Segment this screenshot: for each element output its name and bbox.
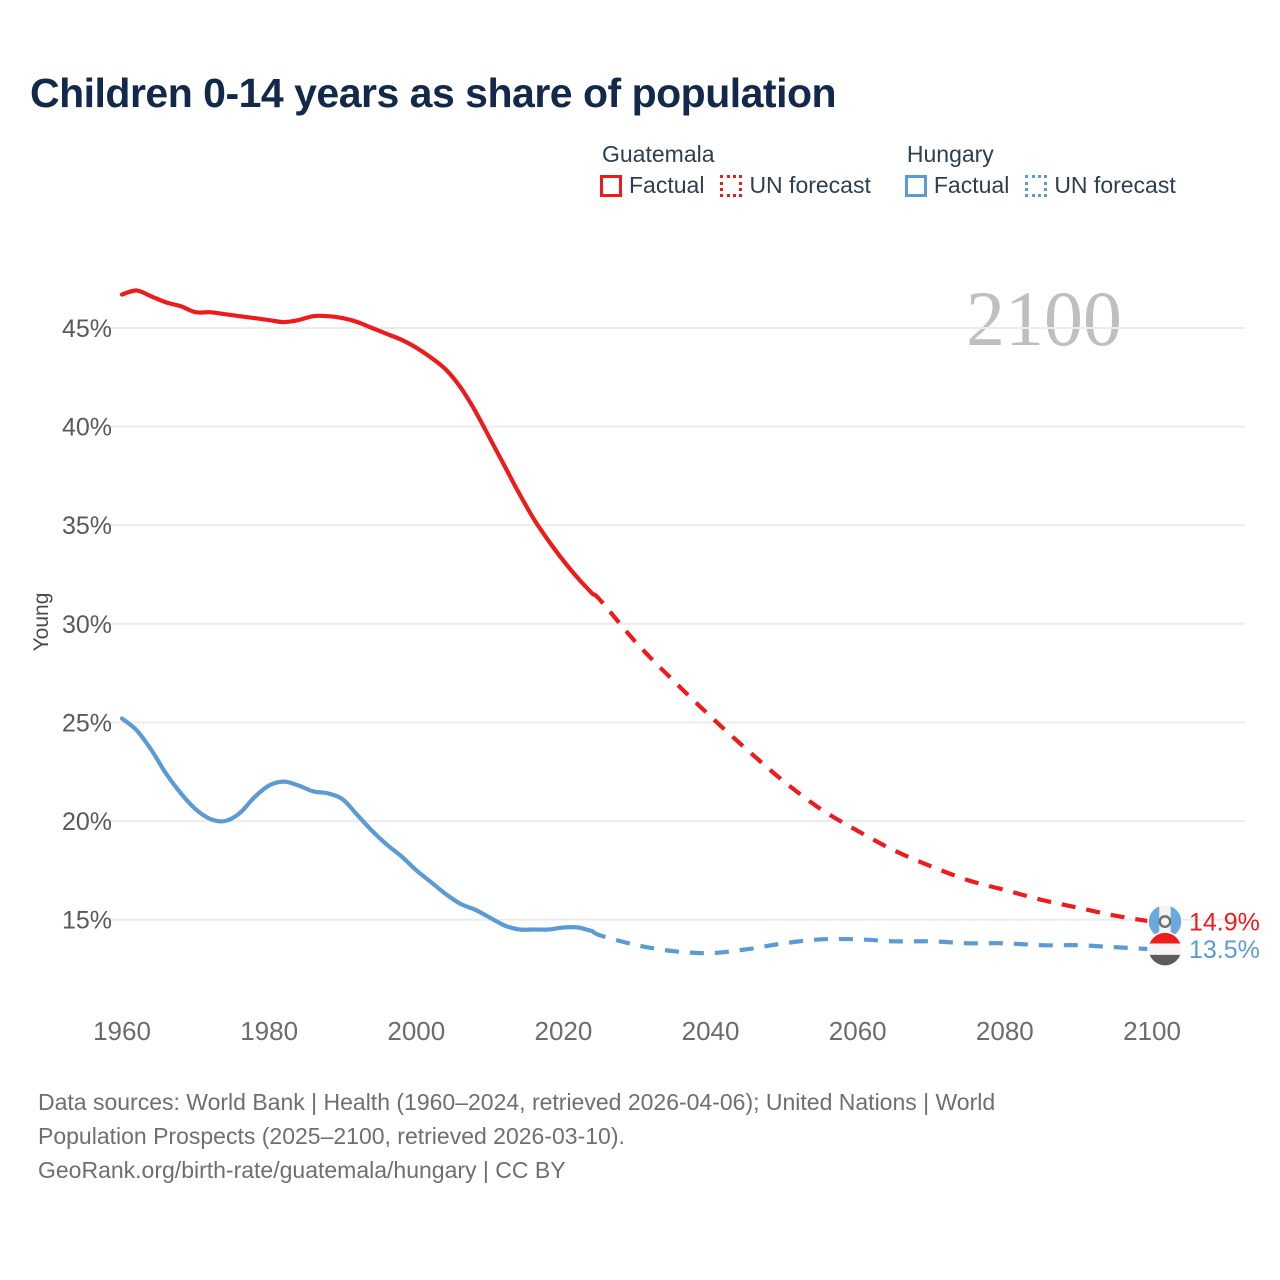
x-tick-label: 2060 bbox=[829, 1016, 887, 1046]
y-tick-label: 15% bbox=[62, 907, 112, 935]
line-chart-svg: 2100 15%20%25%30%35%40%45% 1960198020002… bbox=[0, 0, 1280, 1060]
x-tick-label: 1960 bbox=[93, 1016, 151, 1046]
x-tick-label: 2100 bbox=[1123, 1016, 1181, 1046]
y-tick-label: 20% bbox=[62, 808, 112, 836]
y-tick-label: 45% bbox=[62, 315, 112, 343]
guatemala-end-label: 14.9% bbox=[1189, 909, 1260, 937]
chart-page: Children 0-14 years as share of populati… bbox=[0, 0, 1280, 1280]
x-tick-label: 2020 bbox=[535, 1016, 593, 1046]
x-tick-label: 2080 bbox=[976, 1016, 1034, 1046]
year-watermark: 2100 bbox=[966, 275, 1122, 362]
data-series-group bbox=[122, 290, 1152, 953]
series-line-factual-guatemala bbox=[122, 290, 593, 594]
x-tick-label: 1980 bbox=[240, 1016, 298, 1046]
x-tick-label: 2040 bbox=[682, 1016, 740, 1046]
end-markers-group: 14.9%13.5% bbox=[1148, 905, 1260, 967]
gridlines bbox=[110, 328, 1245, 920]
hungary-end-label: 13.5% bbox=[1189, 936, 1260, 964]
series-line-factual-hungary bbox=[122, 719, 593, 932]
y-tick-label: 25% bbox=[62, 709, 112, 737]
y-tick-label: 40% bbox=[62, 414, 112, 442]
x-tick-label: 2000 bbox=[387, 1016, 445, 1046]
y-axis-ticks: 15%20%25%30%35%40%45% bbox=[62, 315, 112, 935]
series-line-forecast-guatemala bbox=[593, 594, 1152, 921]
y-tick-label: 30% bbox=[62, 611, 112, 639]
footer-line-1: Data sources: World Bank | Health (1960–… bbox=[38, 1085, 1218, 1119]
footer-line-2: Population Prospects (2025–2100, retriev… bbox=[38, 1119, 1218, 1153]
footer-sources: Data sources: World Bank | Health (1960–… bbox=[38, 1085, 1218, 1187]
y-axis-label: Young bbox=[30, 593, 53, 652]
plot-area: 2100 15%20%25%30%35%40%45% 1960198020002… bbox=[0, 0, 1280, 1060]
footer-line-3[interactable]: GeoRank.org/birth-rate/guatemala/hungary… bbox=[38, 1153, 1218, 1187]
x-axis-ticks: 19601980200020202040206020802100 bbox=[93, 1016, 1181, 1046]
series-line-forecast-hungary bbox=[593, 931, 1152, 953]
y-tick-label: 35% bbox=[62, 512, 112, 540]
